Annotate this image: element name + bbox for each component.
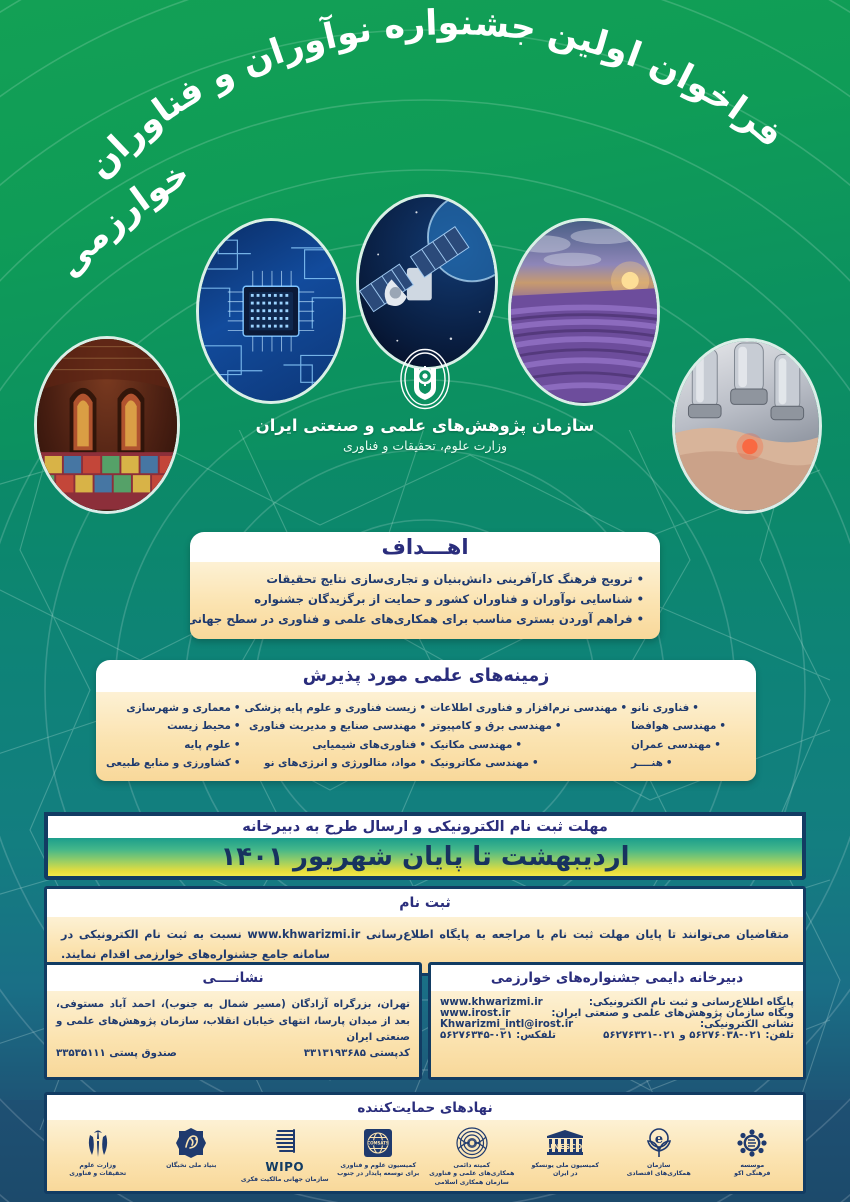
field-item: مهندسی صنایع و مدیریت فناوری	[244, 717, 426, 735]
goal-item: شناسایی نوآوران و فناوران کشور و حمایت ا…	[206, 590, 644, 610]
field-item: زیست فناوری و علوم پایه پزشکی	[244, 699, 426, 717]
eco-organization-logo: e	[614, 1126, 704, 1160]
secretariat-box: دبیرخانه دایمی جشنواره‌های خوارزمی پایگا…	[428, 962, 806, 1080]
registration-text: متقاضیان می‌توانند تا پایان مهلت ثبت نام…	[61, 925, 789, 964]
fields-column-2: مهندسی نرم‌افزار و فناوری اطلاعات مهندسی…	[430, 699, 627, 772]
sponsor: WIPO سازمان جهانی مالکیت فکری	[238, 1126, 332, 1184]
sponsor-caption: بنیاد ملی نخبگان	[147, 1162, 237, 1170]
secretariat-row: نشانی الکترونیکی: Khwarizmi_intl@irost.i…	[440, 1019, 794, 1030]
comsats-logo: COMSATS	[334, 1126, 424, 1160]
organization-name: سازمان پژوهش‌های علمی و صنعتی ایران	[0, 416, 850, 437]
svg-text:e: e	[655, 1132, 663, 1147]
goals-panel: اهـــداف ترویج فرهنگ کارآفرینی دانش‌بنیا…	[190, 532, 660, 639]
wipo-wordmark: WIPO	[240, 1160, 330, 1174]
sponsor: e سازمان همکاری‌های اقتصادی	[612, 1126, 706, 1179]
title-line-1: فراخوان اولین جشنواره نوآوران و فناوران	[80, 3, 791, 186]
sponsor: بنیاد ملی نخبگان	[145, 1126, 239, 1170]
phone-label: تلفن: ۰۲۱-۵۶۲۷۶۰۳۸ و ۰۲۱-۵۶۲۷۶۳۲۱	[603, 1030, 794, 1041]
secretariat-row: تلفن: ۰۲۱-۵۶۲۷۶۰۳۸ و ۰۲۱-۵۶۲۷۶۳۲۱ تلفکس:…	[440, 1030, 794, 1041]
registration-heading: ثبت نام	[47, 889, 803, 917]
deadline-value: اردیبهشت تا پایان شهریور ۱۴۰۱	[220, 842, 629, 872]
deadline-band: اردیبهشت تا پایان شهریور ۱۴۰۱	[44, 838, 806, 880]
fields-column-4: معماری و شهرسازی محیط زیست علوم پایه کشا…	[106, 699, 240, 772]
sponsor: موسسه فرهنگی اکو	[706, 1126, 800, 1179]
address-text: تهران، بزرگراه آزادگان (مسیر شمال به جنو…	[56, 997, 410, 1047]
row-label: پایگاه اطلاع‌رسانی و ثبت نام الکترونیکی:	[589, 997, 794, 1008]
fields-heading: زمینه‌های علمی مورد پذیرش	[96, 660, 756, 692]
sponsors-heading: نهادهای حمایت‌کننده	[47, 1095, 803, 1120]
po-box-label: صندوق پستی	[109, 1048, 177, 1059]
postal-code: کدپستی ۳۳۱۳۱۹۳۶۸۵	[304, 1048, 410, 1059]
satellite-in-space-image	[356, 194, 498, 370]
sponsor-caption: کمیسیون علوم و فناوری برای توسعه پایدار …	[334, 1162, 424, 1179]
irost-hands-gear-logo	[394, 348, 456, 410]
deadline-heading: مهلت ثبت نام الکترونیکی و ارسال طرح به د…	[44, 812, 806, 838]
field-item: هنــــر	[631, 754, 746, 772]
field-item: علوم پایه	[106, 736, 240, 754]
field-item: مهندسی مکاترونیک	[430, 754, 627, 772]
deadline-panel: مهلت ثبت نام الکترونیکی و ارسال طرح به د…	[44, 812, 806, 880]
poster-root: فراخوان اولین جشنواره نوآوران و فناوران …	[0, 0, 850, 1202]
address-box: نشانــــی تهران، بزرگراه آزادگان (مسیر ش…	[44, 962, 422, 1080]
field-item: محیط زیست	[106, 717, 240, 735]
sponsor: COMSATS کمیسیون علوم و فناوری برای توسعه…	[332, 1126, 426, 1179]
address-heading: نشانــــی	[47, 965, 419, 991]
field-item: مهندسی نرم‌افزار و فناوری اطلاعات	[430, 699, 627, 717]
sponsor: وزارت علوم تحقیقات و فناوری	[51, 1126, 145, 1179]
sponsor-caption: موسسه فرهنگی اکو	[708, 1162, 798, 1179]
secretariat-row: وبگاه سازمان پژوهش‌های علمی و صنعتی ایرا…	[440, 1008, 794, 1019]
postal-code-value: ۳۳۱۳۱۹۳۶۸۵	[304, 1048, 366, 1059]
oic-standing-committee-logo	[427, 1126, 517, 1160]
secretariat-heading: دبیرخانه دایمی جشنواره‌های خوارزمی	[431, 965, 803, 991]
fields-column-1: فناوری نانو مهندسی هوافضا مهندسی عمران ه…	[631, 699, 746, 772]
field-item: کشاورزی و منابع طبیعی	[106, 754, 240, 772]
sponsor-caption: سازمان همکاری‌های اقتصادی	[614, 1162, 704, 1179]
goal-item: ترویج فرهنگ کارآفرینی دانش‌بنیان و تجاری…	[206, 570, 644, 590]
svg-text:COMSATS: COMSATS	[367, 1141, 389, 1146]
sponsor: UNESCO کمیسیون ملی یونسکو در ایران	[519, 1126, 613, 1179]
eco-cultural-institute-logo	[708, 1126, 798, 1160]
sponsor-caption: کمیته دائمی همکاری‌های علمی و فناوری ساز…	[427, 1162, 517, 1187]
organization-block: سازمان پژوهش‌های علمی و صنعتی ایران وزار…	[0, 348, 850, 453]
row-value[interactable]: Khwarizmi_intl@irost.ir	[440, 1019, 573, 1030]
secretariat-row: پایگاه اطلاع‌رسانی و ثبت نام الکترونیکی:…	[440, 997, 794, 1008]
fax-label: تلفکس: ۰۲۱-۵۶۲۷۶۳۴۵	[440, 1030, 556, 1041]
field-item: مهندسی مکانیک	[430, 736, 627, 754]
row-label: نشانی الکترونیکی:	[700, 1019, 794, 1030]
row-value[interactable]: www.irost.ir	[440, 1008, 510, 1019]
svg-text:UNESCO: UNESCO	[548, 1143, 583, 1151]
sponsor-caption: سازمان جهانی مالکیت فکری	[240, 1176, 330, 1184]
sponsors-panel: نهادهای حمایت‌کننده	[44, 1092, 806, 1194]
field-item: معماری و شهرسازی	[106, 699, 240, 717]
sponsor: کمیته دائمی همکاری‌های علمی و فناوری ساز…	[425, 1126, 519, 1187]
field-item: مهندسی عمران	[631, 736, 746, 754]
postal-code-label: کدپستی	[370, 1048, 410, 1059]
row-label: وبگاه سازمان پژوهش‌های علمی و صنعتی ایرا…	[551, 1008, 794, 1019]
ministry-name: وزارت علوم، تحقیقات و فناوری	[0, 438, 850, 453]
row-value[interactable]: www.khwarizmi.ir	[440, 997, 543, 1008]
po-box-value: ۳۳۵۳۵۱۱۱	[56, 1048, 106, 1059]
sponsor-caption: کمیسیون ملی یونسکو در ایران	[521, 1162, 611, 1179]
field-item: مواد، متالورژی و انرژی‌های نو	[244, 754, 426, 772]
field-item: فناوری نانو	[631, 699, 746, 717]
contact-section: دبیرخانه دایمی جشنواره‌های خوارزمی پایگا…	[44, 962, 806, 1080]
unesco-logo: UNESCO	[521, 1126, 611, 1160]
po-box: صندوق پستی ۳۳۵۳۵۱۱۱	[56, 1048, 177, 1059]
wipo-logo	[240, 1126, 330, 1160]
goal-item: فراهم آوردن بستری مناسب برای همکاری‌های …	[206, 610, 644, 630]
fields-column-3: زیست فناوری و علوم پایه پزشکی مهندسی صنا…	[244, 699, 426, 772]
national-elites-foundation-logo	[147, 1126, 237, 1160]
field-item: فناوری‌های شیمیایی	[244, 736, 426, 754]
scientific-fields-panel: زمینه‌های علمی مورد پذیرش فناوری نانو مه…	[96, 660, 756, 781]
field-item: مهندسی هوافضا	[631, 717, 746, 735]
sponsor-caption: وزارت علوم تحقیقات و فناوری	[53, 1162, 143, 1179]
goals-heading: اهـــداف	[190, 532, 660, 562]
field-item: مهندسی برق و کامپیوتر	[430, 717, 627, 735]
ministry-of-science-logo	[53, 1126, 143, 1160]
